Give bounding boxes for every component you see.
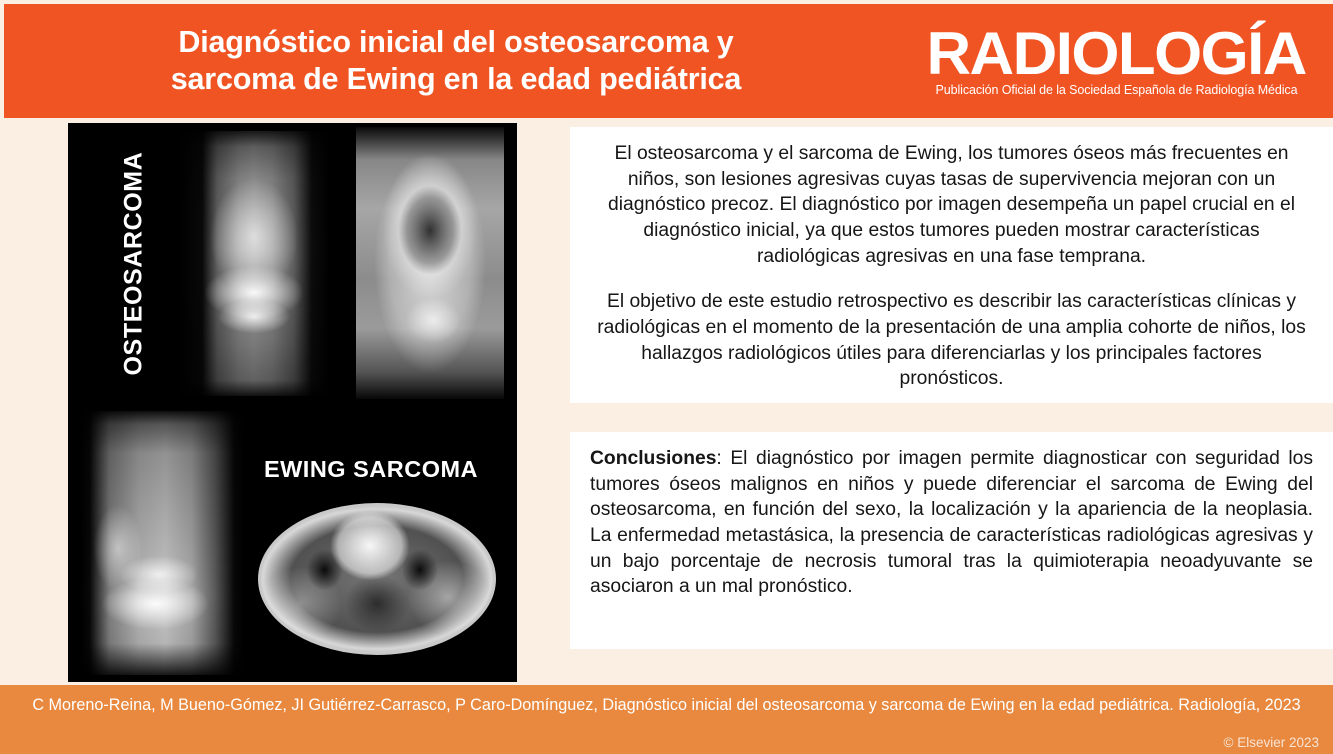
- scan-axial-mri-pelvis: [258, 503, 496, 655]
- conclusions-separator: :: [716, 448, 730, 469]
- scan-coronal-radiograph-knee: [178, 131, 330, 396]
- abstract-box: El osteosarcoma y el sarcoma de Ewing, l…: [570, 127, 1333, 403]
- poster-root: Diagnóstico inicial del osteosarcoma y s…: [0, 0, 1333, 754]
- conclusions-paragraph: Conclusiones: El diagnóstico por imagen …: [590, 446, 1313, 600]
- page-title: Diagnóstico inicial del osteosarcoma y s…: [171, 24, 741, 98]
- footer-citation: C Moreno-Reina, M Bueno-Gómez, JI Gutiér…: [28, 694, 1305, 716]
- scan-ap-radiograph-ankle: [80, 411, 244, 675]
- poster-footer: C Moreno-Reina, M Bueno-Gómez, JI Gutiér…: [0, 685, 1333, 754]
- poster-header: Diagnóstico inicial del osteosarcoma y s…: [4, 4, 1333, 118]
- conclusions-box: Conclusiones: El diagnóstico por imagen …: [570, 432, 1333, 649]
- header-title-container: Diagnóstico inicial del osteosarcoma y s…: [4, 4, 914, 118]
- figure-label-osteosarcoma: OSTEOSARCOMA: [120, 156, 149, 376]
- footer-copyright: © Elsevier 2023: [1224, 735, 1320, 750]
- journal-logo: RADIOLOGÍA Publicación Oficial de la Soc…: [914, 4, 1333, 118]
- abstract-paragraph-1: El osteosarcoma y el sarcoma de Ewing, l…: [592, 141, 1311, 269]
- journal-logo-wordmark: RADIOLOGÍA: [927, 25, 1306, 82]
- conclusions-body: El diagnóstico por imagen permite diagno…: [590, 448, 1313, 597]
- conclusions-lead-label: Conclusiones: [590, 448, 716, 469]
- figure-row-ewing: [68, 403, 517, 682]
- figure-panel: OSTEOSARCOMA EWING SARCOMA: [68, 123, 517, 682]
- abstract-paragraph-2: El objetivo de este estudio retrospectiv…: [592, 289, 1311, 392]
- figure-label-ewing-sarcoma: EWING SARCOMA: [236, 456, 506, 483]
- scan-sagittal-mri-knee: [356, 127, 504, 399]
